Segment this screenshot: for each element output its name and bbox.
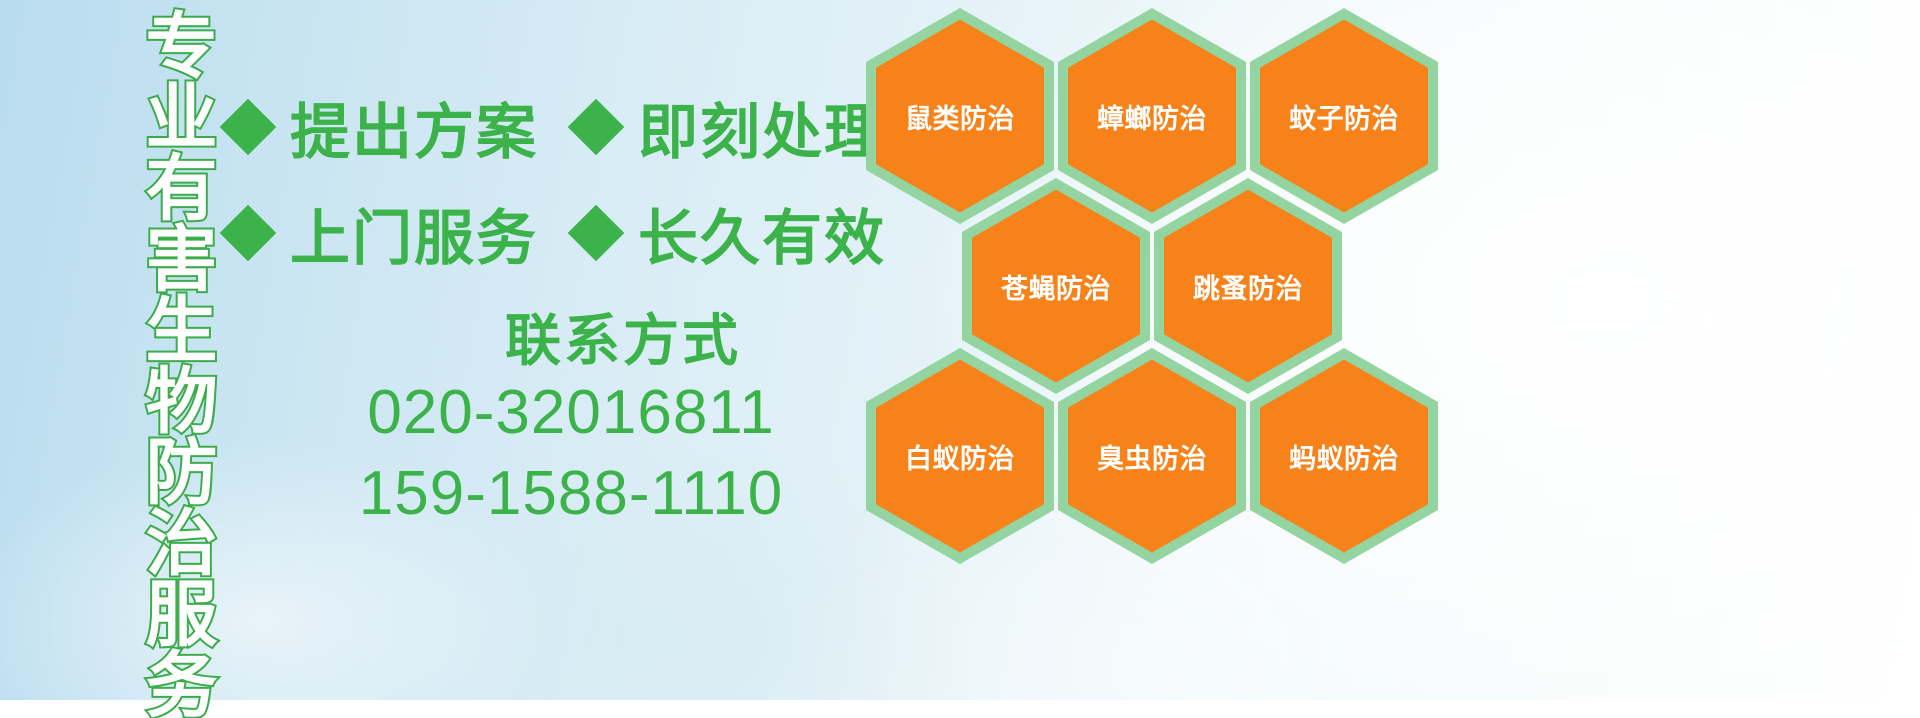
hex-inner: 鼠类防治 (876, 20, 1044, 213)
hex-cell-termite-control[interactable]: 白蚁防治 (866, 348, 1054, 564)
hex-label-mosquito-control: 蚊子防治 (1289, 97, 1399, 136)
hex-cell-bedbug-control[interactable]: 臭虫防治 (1058, 348, 1246, 564)
feature-label-door-to-door-service: 上门服务 (290, 190, 538, 277)
hex-label-termite-control: 白蚁防治 (905, 437, 1015, 476)
service-honeycomb: 鼠类防治 蟑螂防治 蚊子防治 苍蝇防治 跳蚤防治 白蚁防 (862, 0, 1462, 700)
hex-label-rodent-control: 鼠类防治 (905, 97, 1015, 136)
hex-cell-fly-control[interactable]: 苍蝇防治 (962, 178, 1150, 394)
hex-inner: 蟑螂防治 (1068, 20, 1236, 213)
hex-cell-cockroach-control[interactable]: 蟑螂防治 (1058, 8, 1246, 224)
hex-cell-ant-control[interactable]: 蚂蚁防治 (1250, 348, 1438, 564)
phone-number-mobile[interactable]: 159-1588-1110 (322, 453, 820, 535)
hex-label-bedbug-control: 臭虫防治 (1097, 437, 1207, 476)
vertical-brand-title: 专业有害生物防治服务 (106, 8, 210, 568)
contact-block: 联系方式 020-32016811 159-1588-1110 (300, 310, 820, 535)
hex-inner: 臭虫防治 (1068, 360, 1236, 553)
feature-row-1: 提出方案 即刻处理 (228, 74, 868, 180)
hex-inner: 苍蝇防治 (972, 190, 1140, 383)
hex-cell-rodent-control[interactable]: 鼠类防治 (866, 8, 1054, 224)
hex-label-ant-control: 蚂蚁防治 (1289, 437, 1399, 476)
feature-label-immediate-handling: 即刻处理 (638, 84, 886, 171)
diamond-bullet-icon (220, 205, 277, 262)
diamond-bullet-icon (220, 99, 277, 156)
pest-control-banner: 专业有害生物防治服务 提出方案 即刻处理 上门服务 长久有效 联系方式 020-… (0, 0, 1920, 700)
hex-cell-mosquito-control[interactable]: 蚊子防治 (1250, 8, 1438, 224)
hex-label-cockroach-control: 蟑螂防治 (1097, 97, 1207, 136)
diamond-bullet-icon (568, 205, 625, 262)
hex-inner: 蚊子防治 (1260, 20, 1428, 213)
hex-inner: 白蚁防治 (876, 360, 1044, 553)
hex-cell-flea-control[interactable]: 跳蚤防治 (1154, 178, 1342, 394)
hex-inner: 蚂蚁防治 (1260, 360, 1428, 553)
diamond-bullet-icon (568, 99, 625, 156)
feature-list: 提出方案 即刻处理 上门服务 长久有效 (228, 74, 868, 286)
phone-number-landline[interactable]: 020-32016811 (322, 372, 820, 454)
feature-row-2: 上门服务 长久有效 (228, 180, 868, 286)
hex-label-flea-control: 跳蚤防治 (1193, 267, 1303, 306)
feature-label-long-lasting-effect: 长久有效 (638, 190, 886, 277)
contact-label: 联系方式 (426, 310, 820, 372)
hex-inner: 跳蚤防治 (1164, 190, 1332, 383)
hex-label-fly-control: 苍蝇防治 (1001, 267, 1111, 306)
feature-label-propose-plan: 提出方案 (290, 84, 538, 171)
